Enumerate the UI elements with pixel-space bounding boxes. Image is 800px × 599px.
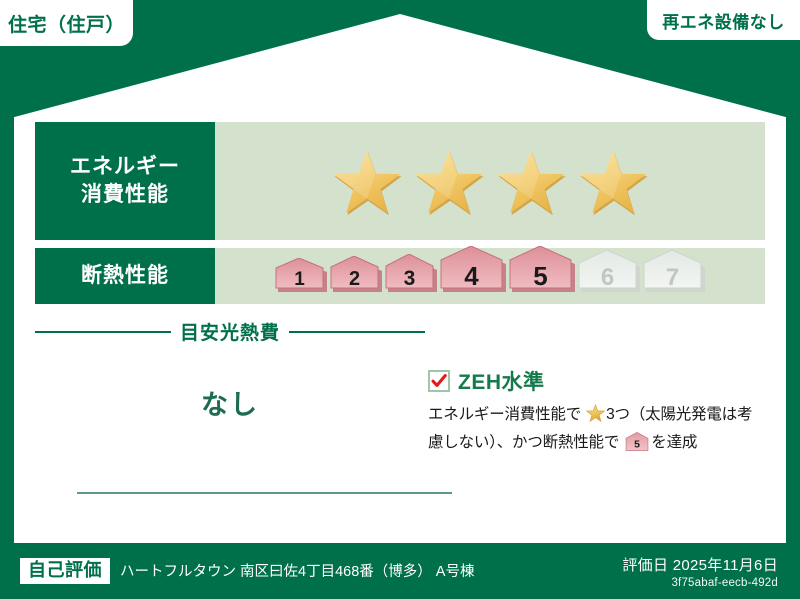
insulation-grade-7: 7 — [643, 250, 705, 298]
insulation-performance-label-cell: 断熱性能 — [35, 248, 215, 304]
energy-performance-label-line1: エネルギー — [70, 153, 180, 181]
star-icon — [494, 146, 568, 216]
insulation-grade-2: 2 — [330, 256, 382, 298]
document-id: 3f75abaf-eecb-492d — [622, 577, 778, 589]
utility-cost-rule-left — [35, 331, 171, 333]
insulation-performance-label: 断熱性能 — [81, 262, 169, 290]
zeh-description: エネルギー消費性能で 3つ（太陽光発電は考慮しない）、かつ断熱性能で — [428, 403, 758, 460]
insulation-grade-1: 1 — [275, 258, 327, 298]
zeh-title: ZEH水準 — [458, 366, 545, 396]
evaluation-date: 評価日 2025年11月6日 — [622, 554, 778, 575]
zeh-desc-part1: エネルギー消費性能で — [428, 406, 581, 423]
tag-renewable-equipment-label: 再エネ設備なし — [662, 8, 785, 33]
grade-number: 4 — [464, 261, 479, 291]
insulation-grade-scale: 1234567 — [275, 254, 705, 298]
grade-number: 5 — [533, 261, 547, 291]
tag-renewable-equipment: 再エネ設備なし — [647, 0, 800, 40]
insulation-performance-value-cell: 1234567 — [215, 248, 765, 304]
utility-cost-value: なし — [35, 383, 425, 422]
energy-performance-label-line2: 消費性能 — [81, 181, 169, 209]
property-name: ハートフルタウン 南区曰佐4丁目468番（博多） A号棟 — [120, 560, 474, 581]
grade-number: 3 — [404, 267, 416, 290]
star-icon-inline — [582, 410, 605, 427]
zeh-header: ZEH水準 — [428, 366, 758, 396]
utility-cost-header: 目安光熱費 — [35, 318, 425, 345]
grade-number: 6 — [601, 264, 614, 291]
page-title: 建築物省エネ法に基づく 省エネ性能ラベル — [0, 42, 800, 114]
energy-performance-value-cell — [215, 122, 765, 240]
insulation-grade-5: 5 — [509, 246, 575, 298]
utility-cost-title: 目安光熱費 — [180, 318, 280, 345]
star-icon — [330, 146, 404, 216]
star-rating — [330, 146, 650, 216]
utility-cost-rule-right — [289, 331, 425, 333]
zeh-desc-part3: を達成 — [651, 434, 697, 451]
grade-number: 2 — [349, 268, 360, 290]
footer-right: 評価日 2025年11月6日 3f75abaf-eecb-492d — [622, 554, 778, 589]
utility-cost-rule-bottom — [77, 492, 452, 494]
insulation-grade-6: 6 — [578, 250, 640, 298]
grade-number: 7 — [666, 264, 679, 291]
footer-left: 自己評価 ハートフルタウン 南区曰佐4丁目468番（博多） A号棟 — [20, 558, 474, 585]
title-main: 省エネ性能ラベル — [0, 70, 800, 114]
energy-performance-label: 住宅（住戸） 再エネ設備なし 建築物省エネ法に基づく 省エネ性能ラベル エネルギ… — [0, 0, 800, 599]
performance-rows: エネルギー 消費性能 断熱性能 1234567 — [35, 122, 765, 312]
insulation-grade-3: 3 — [385, 254, 437, 298]
zeh-block: ZEH水準 エネルギー消費性能で 3つ（太陽光発電は考慮しない）、かつ断熱性能で — [428, 366, 758, 460]
footer: 自己評価 ハートフルタウン 南区曰佐4丁目468番（博多） A号棟 評価日 20… — [0, 543, 800, 599]
tag-house-type: 住宅（住戸） — [0, 0, 133, 46]
insulation-grade-icon-inline: 5 — [621, 439, 649, 456]
energy-performance-label-cell: エネルギー 消費性能 — [35, 122, 215, 240]
insulation-grade-4: 4 — [440, 246, 506, 298]
row-insulation-performance: 断熱性能 1234567 — [35, 248, 765, 304]
inline-grade-number: 5 — [634, 438, 640, 450]
star-icon — [576, 146, 650, 216]
grade-number: 1 — [294, 269, 305, 290]
star-icon — [412, 146, 486, 216]
utility-cost-block: 目安光熱費 なし — [35, 318, 425, 422]
row-energy-performance: エネルギー 消費性能 — [35, 122, 765, 240]
self-evaluation-badge: 自己評価 — [20, 558, 110, 585]
tag-house-type-label: 住宅（住戸） — [8, 10, 125, 37]
checkmark-icon — [428, 370, 450, 392]
